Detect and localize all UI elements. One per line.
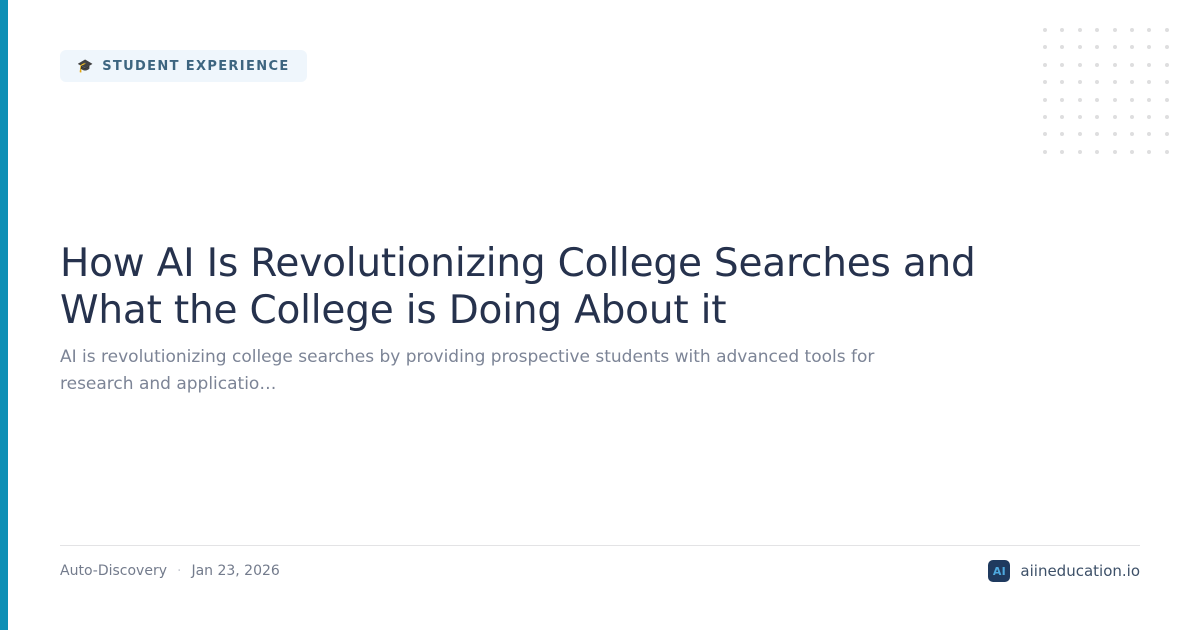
- publish-date: Jan 23, 2026: [191, 563, 279, 579]
- decorative-dot: [1147, 45, 1151, 49]
- footer-divider: [60, 545, 1140, 546]
- decorative-dot: [1147, 28, 1151, 32]
- article-headline: How AI Is Revolutionizing College Search…: [60, 240, 1020, 334]
- graduation-cap-icon: 🎓: [77, 60, 93, 73]
- decorative-dot: [1147, 150, 1151, 154]
- source-label: Auto-Discovery: [60, 563, 167, 579]
- left-accent-bar: [0, 0, 8, 630]
- decorative-dot: [1165, 80, 1169, 84]
- decorative-dot: [1147, 115, 1151, 119]
- decorative-dot: [1165, 115, 1169, 119]
- card-footer: Auto-Discovery · Jan 23, 2026 AI aiinedu…: [60, 556, 1140, 586]
- og-card: 🎓 STUDENT EXPERIENCE How AI Is Revolutio…: [0, 0, 1200, 630]
- decorative-dot: [1147, 98, 1151, 102]
- decorative-dot: [1165, 45, 1169, 49]
- brand-block[interactable]: AI aiineducation.io: [988, 560, 1140, 582]
- metadata-separator-dot: ·: [177, 564, 181, 578]
- decorative-dot: [1165, 98, 1169, 102]
- decorative-dot: [1147, 80, 1151, 84]
- category-badge[interactable]: 🎓 STUDENT EXPERIENCE: [60, 50, 307, 82]
- decorative-dot: [1147, 63, 1151, 67]
- decorative-dot: [1165, 150, 1169, 154]
- decorative-dot: [1165, 63, 1169, 67]
- decorative-dot: [1165, 132, 1169, 136]
- card-content: 🎓 STUDENT EXPERIENCE How AI Is Revolutio…: [60, 0, 1140, 630]
- category-badge-label: STUDENT EXPERIENCE: [102, 59, 289, 74]
- brand-logo-icon: AI: [988, 560, 1010, 582]
- decorative-dot: [1147, 132, 1151, 136]
- decorative-dot: [1165, 28, 1169, 32]
- brand-site-name: aiineducation.io: [1020, 562, 1140, 580]
- footer-metadata: Auto-Discovery · Jan 23, 2026: [60, 563, 280, 579]
- article-description: AI is revolutionizing college searches b…: [60, 344, 890, 398]
